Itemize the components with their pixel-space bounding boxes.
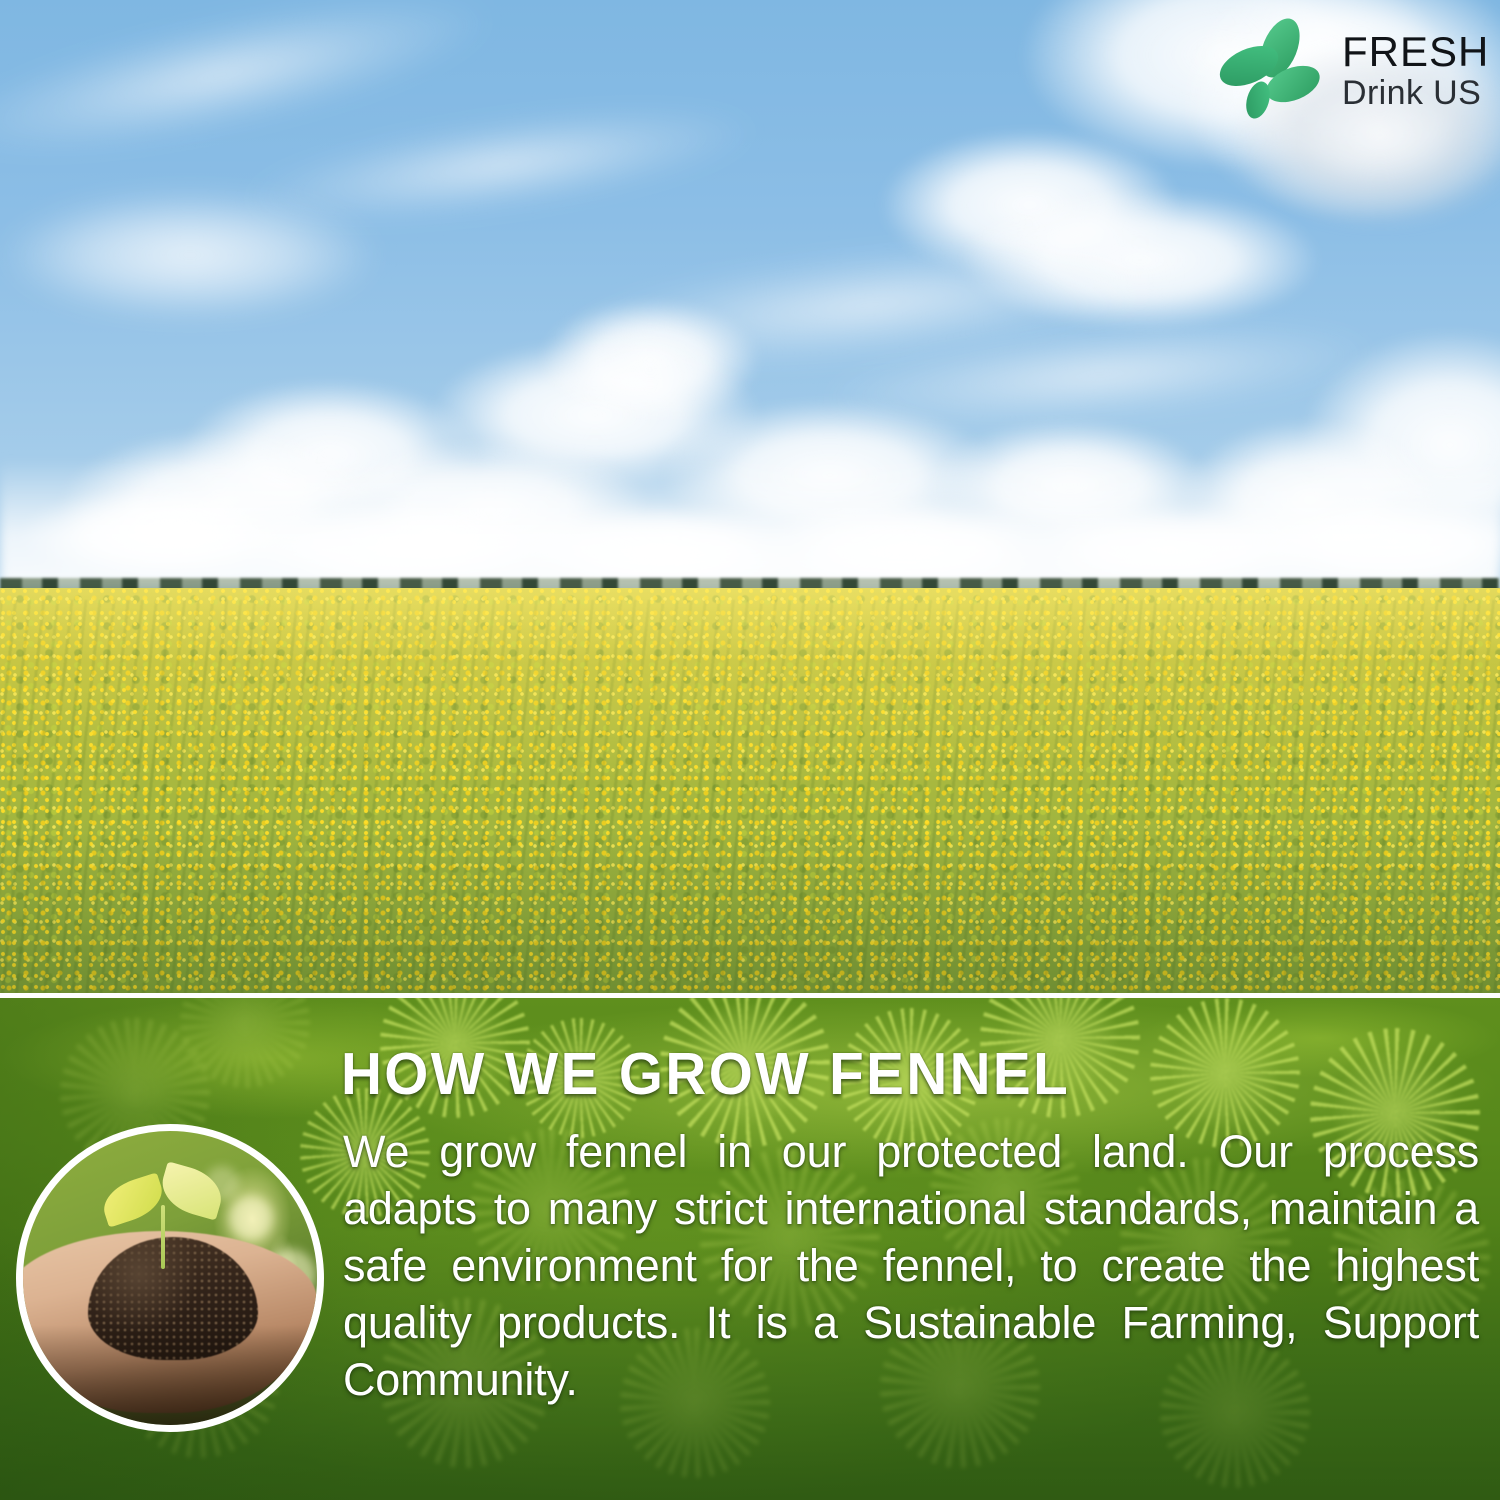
hero-field-photo bbox=[0, 0, 1500, 993]
field-lighting-overlay bbox=[0, 588, 1500, 993]
four-leaf-icon bbox=[1218, 18, 1336, 126]
photo-bottom-shadow bbox=[23, 1325, 317, 1425]
sprout-stem bbox=[161, 1205, 165, 1270]
brand-name-primary: FRESH bbox=[1342, 30, 1488, 74]
brand-logo[interactable]: FRESH Drink US bbox=[1218, 18, 1486, 130]
brand-wordmark: FRESH Drink US bbox=[1342, 30, 1488, 112]
panel-heading: HOW WE GROW FENNEL bbox=[341, 1045, 1301, 1104]
brand-name-secondary: Drink US bbox=[1342, 74, 1488, 112]
hands-seedling-circle-photo bbox=[16, 1124, 324, 1432]
panel-body-text: We grow fennel in our protected land. Ou… bbox=[343, 1123, 1479, 1465]
product-infographic-poster: HOW WE GROW FENNEL We grow fennel in our… bbox=[0, 0, 1500, 1500]
horizon-haze bbox=[0, 458, 1500, 588]
